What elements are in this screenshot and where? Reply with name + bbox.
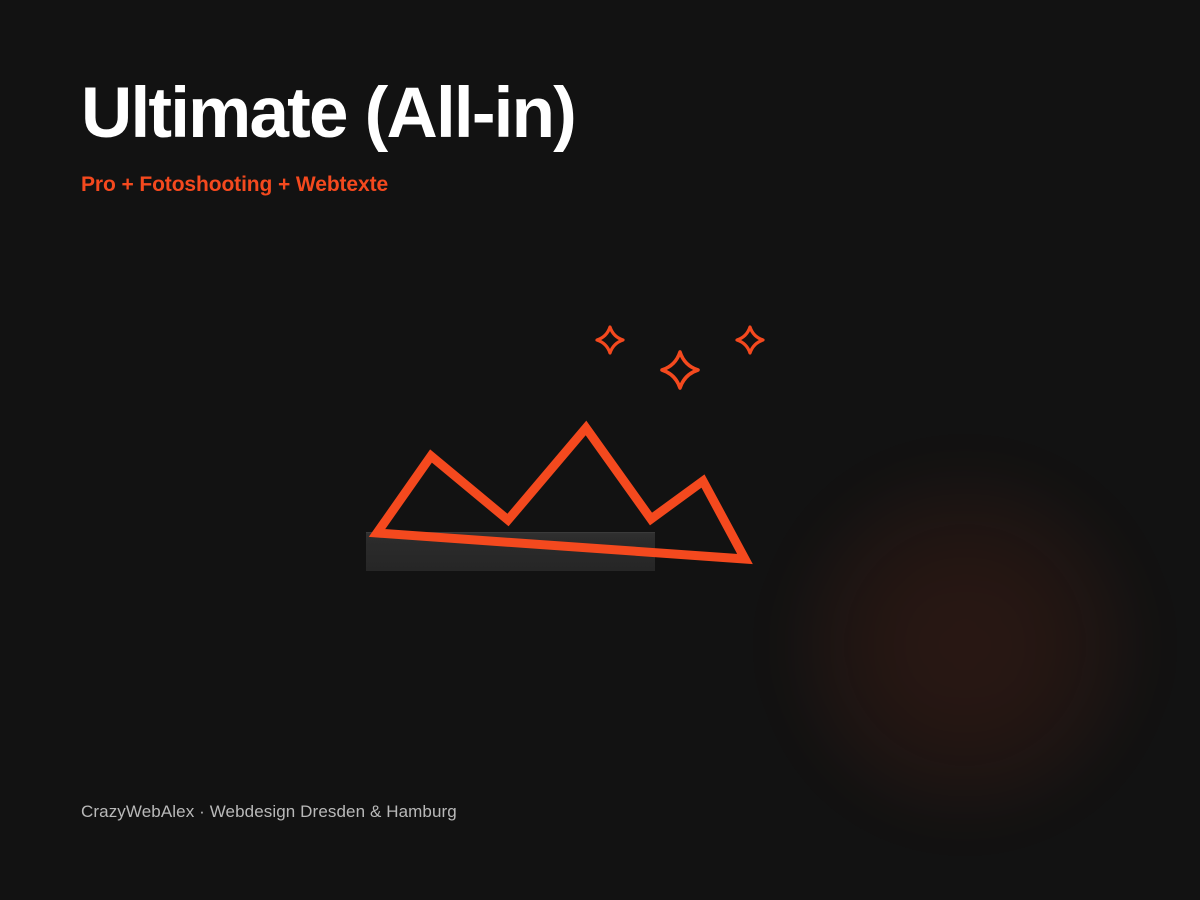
slide-canvas: Ultimate (All-in) Pro + Fotoshooting + W… xyxy=(0,0,1200,900)
shadow-slab xyxy=(366,532,655,571)
headline-block: Ultimate (All-in) Pro + Fotoshooting + W… xyxy=(81,78,1081,198)
page-title: Ultimate (All-in) xyxy=(81,78,1081,150)
sparkle-center-icon xyxy=(662,352,698,388)
background-glow xyxy=(790,470,1140,820)
footer-credit: CrazyWebAlex · Webdesign Dresden & Hambu… xyxy=(81,802,457,822)
sparkle-left-icon xyxy=(597,327,623,353)
page-subtitle: Pro + Fotoshooting + Webtexte xyxy=(81,150,1081,197)
sparkle-right-icon xyxy=(737,327,763,353)
